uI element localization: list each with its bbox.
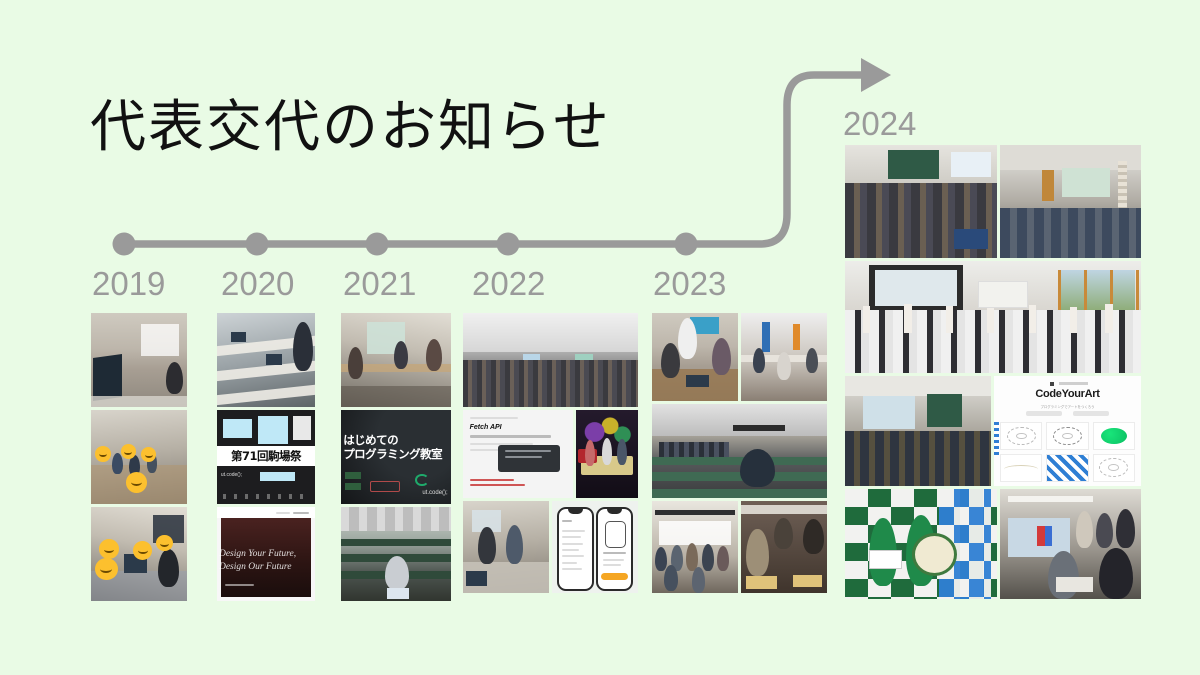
collage-row-1 [845,145,1141,258]
photo-classroom-projector-tablet [91,313,187,407]
caption-programming-class: はじめてのプログラミング教室 [343,434,442,460]
photo-stage-award-ceremony [576,410,638,498]
cya-artwork-grid [1000,422,1135,481]
emoji-face-cover [95,558,118,581]
photo-award-green-backdrop [845,489,997,599]
photo-collage-2024: CodeYourArt CodeYourArt プログラミングでアートをつくろう [845,145,1141,599]
artwork-tile[interactable] [1046,422,1088,450]
photo-classroom-presentation [845,376,991,486]
photo-column-2022: Fetch API [463,313,638,593]
photo-mentoring-table [652,313,738,401]
emoji-face-cover [121,444,136,459]
artwork-tile[interactable] [1093,422,1135,450]
photo-row-2022-bottom [463,501,638,593]
photo-coworking-space [741,313,827,401]
photo-workshop-bright-room [341,313,451,407]
cya-button-create[interactable] [1026,411,1061,416]
photo-programming-class-banner: はじめてのプログラミング教室 ut.code(); [341,410,451,504]
photo-workshop-demo-room [1000,489,1141,599]
year-label-2020: 2020 [221,265,294,303]
photo-tech-blog-article: Fetch API [463,410,573,498]
photo-large-lecture-hall [652,404,827,498]
photo-dinner-party [741,501,827,593]
emoji-face-cover [126,472,147,493]
artwork-tile[interactable] [1000,422,1042,450]
photo-row-2023-bottom [652,501,827,593]
year-label-2019: 2019 [92,265,165,303]
year-label-2024: 2024 [843,105,916,143]
cya-button-view[interactable] [1073,411,1108,416]
photo-lecture-hall-back-view [341,507,451,601]
caption-design-your-future: Design Your Future,Design Our Future [219,548,296,573]
artwork-tile[interactable] [1046,454,1088,482]
emoji-face-cover [156,535,172,551]
caption-komabasai: 第71回駒場祭 [217,446,315,467]
photo-group-photo-whiteboard [652,501,738,593]
photo-codeyourart-website: CodeYourArt CodeYourArt プログラミングでアートをつくろう [994,376,1141,486]
emoji-face-cover [99,539,119,559]
artwork-tile[interactable] [1000,454,1042,482]
photo-university-lecture-hall [845,145,997,258]
emoji-face-cover [133,541,152,560]
photo-online-event-screenshot: 第71回駒場祭 ut.code(); [217,410,315,504]
cya-brand-title: CodeYourArt [994,388,1141,400]
photo-column-2021: はじめてのプログラミング教室 ut.code(); [341,313,451,601]
page-title: 代表交代のお知らせ [90,96,611,160]
photo-computer-room-desks [217,313,315,407]
photo-row-2023-top [652,313,827,401]
phone-notch [568,509,582,514]
photo-seminar-room-students [91,410,187,504]
photo-column-2023 [652,313,827,593]
collage-row-3: CodeYourArt CodeYourArt プログラミングでアートをつくろう [845,376,1141,486]
year-label-2022: 2022 [472,265,545,303]
photo-column-2020: 第71回駒場祭 ut.code(); Design Your Future,De… [217,313,315,601]
year-label-2023: 2023 [653,265,726,303]
artwork-tile[interactable] [1093,454,1135,482]
phone-notch [607,509,621,514]
collage-row-4 [845,489,1141,599]
photo-large-hall-event [463,313,638,407]
photo-workshop-table-laptops [91,507,187,601]
photo-meeting-room-laptops [463,501,549,593]
photo-app-mockup-phones [552,501,638,593]
photo-website-hero: Design Your Future,Design Our Future [217,507,315,601]
slide-root: 代表交代のお知らせ 2019 2020 2021 2022 2023 2024 [0,0,1200,675]
photo-column-2019 [91,313,187,601]
cya-subtitle: プログラミングでアートをつくろう [994,404,1141,409]
photo-classroom-projector-skeleton [1000,145,1141,258]
year-label-2021: 2021 [343,265,416,303]
phone-mockup-left [557,507,594,592]
photo-row-2022-mid: Fetch API [463,410,638,498]
emoji-face-cover [141,447,156,462]
emoji-face-cover [95,446,111,462]
primary-action-button[interactable] [601,573,627,580]
phone-mockup-right [596,507,633,592]
photo-school-class-raised-hands [845,261,1141,373]
